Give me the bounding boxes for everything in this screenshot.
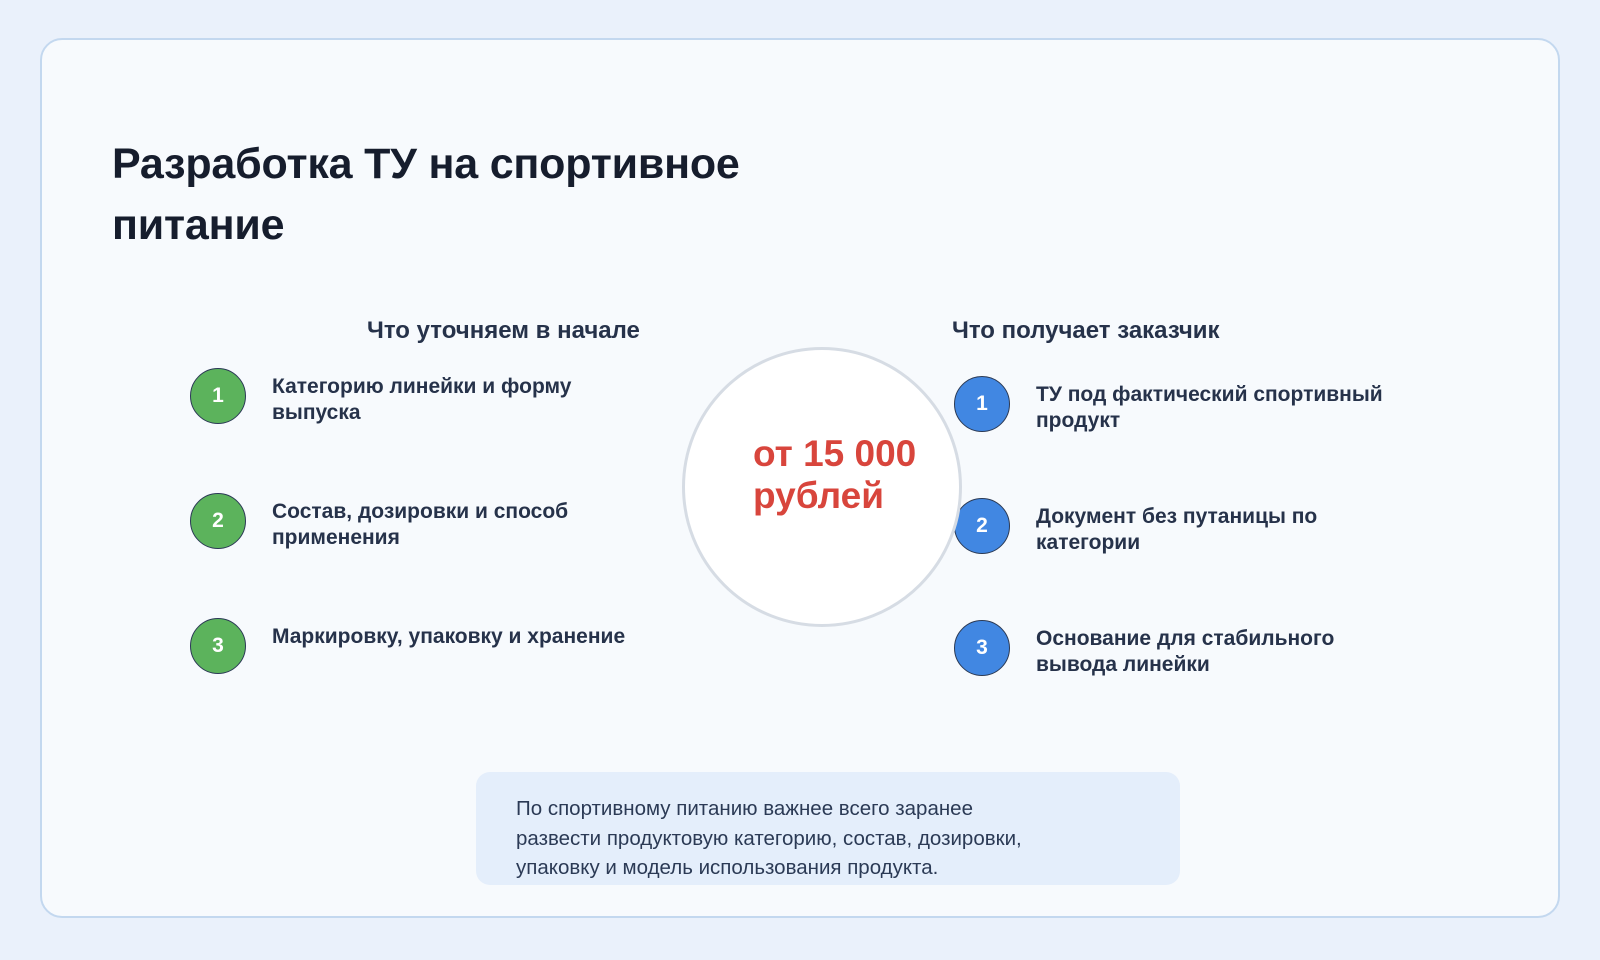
- list-item-label: Основание для стабильного вывода линейки: [1036, 620, 1396, 679]
- page-title: Разработка ТУ на спортивное питание: [112, 134, 812, 256]
- list-item-label: Категорию линейки и форму выпуска: [272, 368, 642, 427]
- right-column-heading: Что получает заказчик: [952, 317, 1220, 345]
- infographic-page: Разработка ТУ на спортивное питание Что …: [0, 0, 1600, 960]
- right-column-list: 1 ТУ под фактический спортивный продукт …: [954, 376, 1384, 742]
- content-card: Разработка ТУ на спортивное питание Что …: [40, 38, 1560, 918]
- note-line: По спортивному питанию важнее всего зара…: [516, 794, 1136, 824]
- list-item: 3 Основание для стабильного вывода линей…: [954, 620, 1384, 680]
- left-column-heading: Что уточняем в начале: [367, 317, 640, 345]
- bullet-number-icon: 3: [190, 618, 246, 674]
- price-circle: от 15 000 рублей: [682, 347, 962, 627]
- bullet-number-icon: 1: [954, 376, 1010, 432]
- note-line: упаковку и модель использования продукта…: [516, 853, 1136, 883]
- bullet-number-icon: 3: [954, 620, 1010, 676]
- note-line: развести продуктовую категорию, состав, …: [516, 824, 1136, 854]
- bullet-number-icon: 2: [190, 493, 246, 549]
- list-item: 2 Состав, дозировки и способ применения: [190, 493, 620, 553]
- list-item: 1 ТУ под фактический спортивный продукт: [954, 376, 1384, 436]
- list-item: 3 Маркировку, упаковку и хранение: [190, 618, 620, 678]
- list-item-label: Маркировку, упаковку и хранение: [272, 618, 642, 650]
- list-item-label: Состав, дозировки и способ применения: [272, 493, 642, 552]
- list-item: 2 Документ без путаницы по категории: [954, 498, 1384, 558]
- list-item: 1 Категорию линейки и форму выпуска: [190, 368, 620, 428]
- list-item-label: Документ без путаницы по категории: [1036, 498, 1396, 557]
- bullet-number-icon: 1: [190, 368, 246, 424]
- list-item-label: ТУ под фактический спортивный продукт: [1036, 376, 1396, 435]
- bullet-number-icon: 2: [954, 498, 1010, 554]
- note-box: По спортивному питанию важнее всего зара…: [476, 772, 1180, 885]
- left-column-list: 1 Категорию линейки и форму выпуска 2 Со…: [190, 368, 620, 678]
- price-label: от 15 000 рублей: [753, 433, 923, 517]
- note-text: По спортивному питанию важнее всего зара…: [516, 794, 1136, 883]
